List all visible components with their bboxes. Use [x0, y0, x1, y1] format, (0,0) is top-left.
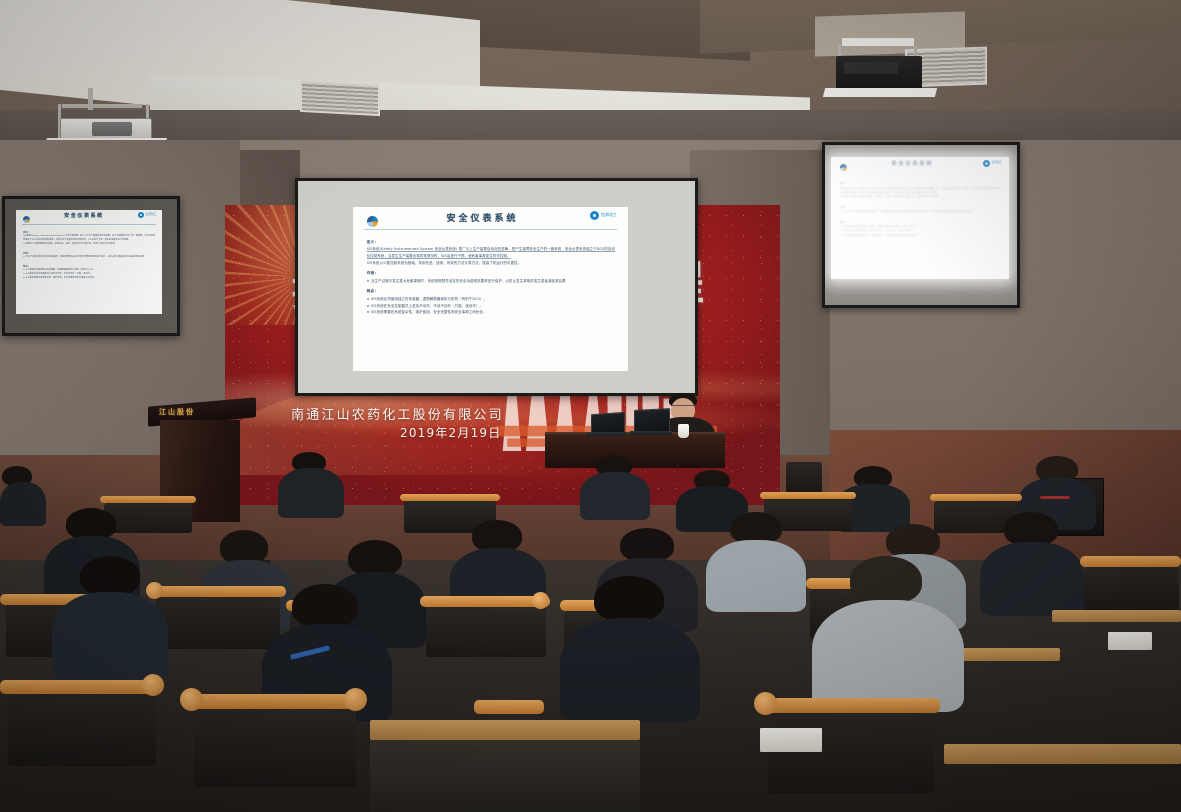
slide-section-function: 作用： ➤ 当生产过程中发生重大危害事故时，系统按照预先设定的安全功能规范要求进… [840, 205, 1002, 215]
slide-body: 定义： SIS系统(Safety Instrumented System 安全仪… [367, 240, 617, 365]
chair [186, 694, 362, 790]
brand-mark-icon [590, 211, 599, 220]
air-vent-left [300, 80, 380, 116]
slide-section-features: 特点： ➤ SIS系统必须使用独立的传感器、逻辑解算器和执行机构（有别于DCS）… [367, 289, 617, 315]
side-monitor-left: 安全仪表系统 信邦化工 定义： SIS系统(Safety Instrumente… [2, 196, 180, 336]
section-bullet: ➤ SIS系统需要在系统复杂性、维护费用、安全完整性和安全事故之间优化。 [23, 277, 156, 281]
attendee [278, 452, 344, 514]
brand-mark-icon [138, 212, 144, 218]
section-line: SIS系统(Safety Instrumented System 安全仪表系统)… [367, 246, 617, 259]
attendee [980, 512, 1084, 610]
left-monitor-surface: 安全仪表系统 信邦化工 定义： SIS系统(Safety Instrumente… [5, 199, 177, 333]
section-heading: 特点： [367, 289, 617, 294]
slide-title: 安全仪表系统 [892, 160, 934, 167]
slide-section-definition: 定义： SIS系统(Safety Instrumented System 安全仪… [367, 240, 617, 266]
laptop-right-base [630, 431, 672, 435]
slide-section-function: 作用： ➤ 当生产过程中发生重大危害事故时，系统按照预先设定的安全功能规范要求进… [367, 271, 617, 284]
brand-mark-icon [983, 160, 990, 167]
slide-logo-right: 信邦化工 [983, 160, 1002, 167]
section-heading: 特点： [840, 220, 1002, 224]
slide-logo-left-icon [23, 216, 30, 223]
row-desk [1052, 610, 1181, 622]
section-line: SIS系统以少数控制系统为基础，采用先进、适用、有效的方法计算方法，提高了机运行… [367, 260, 617, 267]
slide-body: 定义： SIS系统(Safety Instrumented System 安全仪… [23, 231, 156, 310]
slide-logo-right: 信邦化工 [138, 212, 156, 218]
chair [420, 596, 550, 660]
section-bullet: ➤ SIS系统需要在系统复杂性、维护费用、安全完整性和安全事故之间优化。 [840, 234, 1002, 238]
section-line: SIS系统(Safety Instrumented System 安全仪表系统)… [23, 235, 156, 243]
glasses-icon [671, 405, 695, 410]
podium-sign: 江山股份 [159, 407, 195, 417]
slide-body: 定义： SIS系统(Safety Instrumented System 安全仪… [840, 181, 1002, 274]
notebook [1108, 632, 1152, 650]
section-heading: 作用： [367, 271, 617, 276]
slide-section-features: 特点： ➤ SIS系统必须使用独立的传感器、逻辑解算器和执行机构（有别于DCS）… [23, 265, 156, 281]
slide-section-definition: 定义： SIS系统(Safety Instrumented System 安全仪… [840, 181, 1002, 199]
slide-logo-left-icon [840, 164, 847, 171]
ceiling-projector-right [822, 38, 982, 104]
main-projection-screen: 安全仪表系统 信邦化工 定义： SIS系统(Safety Instrumente… [295, 178, 698, 396]
row-desk-front [370, 740, 640, 812]
section-heading: 作用： [840, 205, 1002, 209]
backdrop-company-name: 南通江山农药化工股份有限公司 [291, 404, 504, 423]
slide-divider [364, 229, 617, 230]
section-bullet: ➤ 当生产过程中发生重大危害事故时，系统按照预先设定的安全功能规范要求进行保护，… [840, 210, 1002, 214]
slide-title: 安全仪表系统 [64, 212, 104, 219]
slide-section-features: 特点： ➤ SIS系统必须使用独立的传感器、逻辑解算器和执行机构（有别于DCS）… [840, 220, 1002, 238]
main-screen-surface: 安全仪表系统 信邦化工 定义： SIS系统(Safety Instrumente… [298, 181, 695, 393]
slide-section-definition: 定义： SIS系统(Safety Instrumented System 安全仪… [23, 231, 156, 247]
section-bullet: ➤ SIS系统在安全控制模式上坚持不动作，不动不动作（只能、误动作）。 [367, 303, 617, 310]
presentation-slide: 安全仪表系统 信邦化工 定义： SIS系统(Safety Instrumente… [353, 207, 628, 371]
attendee [560, 576, 700, 716]
slide-header: 安全仪表系统 信邦化工 [353, 207, 628, 235]
conference-hall-photo: 扬 程 南通江山农药化工股份有限公司 2019年2月19日 安全仪表系统 信邦化… [0, 0, 1181, 812]
notebook [760, 728, 822, 752]
attendee [52, 556, 168, 674]
row-desk [370, 720, 640, 740]
slide-header: 安全仪表系统 信邦化工 [831, 157, 1009, 178]
attendee [812, 556, 964, 708]
section-heading: 定义： [840, 181, 1002, 185]
section-heading: 特点： [23, 265, 156, 268]
section-bullet: ➤ SIS系统必须使用独立的传感器、逻辑解算器和执行机构（有别于DCS）。 [367, 296, 617, 303]
brand-name: 信邦化工 [146, 214, 156, 217]
section-bullet: ➤ 当生产过程中发生重大危害事故时，系统按照预先设定的安全功能规范要求进行保护，… [367, 278, 617, 285]
section-line: SIS系统以少数控制系统为基础，采用先进、适用、有效的方法计算方法，提高了机运行… [23, 243, 156, 247]
slide-divider [22, 224, 156, 225]
slide-section-function: 作用： ➤ 当生产过程中发生重大危害事故时，系统按照预先设定的安全功能规范要求进… [23, 252, 156, 260]
slide-logo-right: 信邦化工 [590, 211, 617, 220]
backdrop-date: 2019年2月19日 [400, 424, 501, 441]
right-monitor-surface: 安全仪表系统 信邦化工 定义： SIS系统(Safety Instrumente… [825, 145, 1017, 305]
section-bullet: ➤ 当生产过程中发生重大危害事故时，系统按照预先设定的安全功能规范要求进行保护，… [23, 256, 156, 260]
row-desk [944, 744, 1181, 764]
laptop-left-base [587, 432, 627, 436]
brand-name: 信邦化工 [601, 213, 617, 217]
slide-header: 安全仪表系统 信邦化工 [16, 210, 162, 228]
water-cup [678, 424, 689, 438]
side-monitor-right: 安全仪表系统 信邦化工 定义： SIS系统(Safety Instrumente… [822, 142, 1020, 308]
brand-name: 信邦化工 [992, 162, 1002, 165]
attendee [580, 455, 650, 515]
chair [0, 680, 160, 770]
slide-logo-left-icon [367, 216, 378, 227]
lanyard [1040, 496, 1070, 499]
section-heading: 定义： [23, 231, 156, 234]
section-heading: 作用： [23, 252, 156, 255]
right-monitor-slide: 安全仪表系统 信邦化工 定义： SIS系统(Safety Instrumente… [831, 157, 1009, 279]
section-heading: 定义： [367, 240, 617, 245]
attendee [706, 512, 806, 606]
section-line: SIS系统以少数控制系统为基础，采用先进、适用、有效的方法计算方法，提高了机运行… [840, 195, 1002, 199]
slide-title: 安全仪表系统 [447, 211, 519, 224]
attendee [0, 466, 46, 522]
left-monitor-slide: 安全仪表系统 信邦化工 定义： SIS系统(Safety Instrumente… [16, 210, 162, 314]
section-bullet: ➤ SIS系统需要在系统复杂性、维护费用、安全完整性和安全事故之间优化。 [367, 309, 617, 316]
